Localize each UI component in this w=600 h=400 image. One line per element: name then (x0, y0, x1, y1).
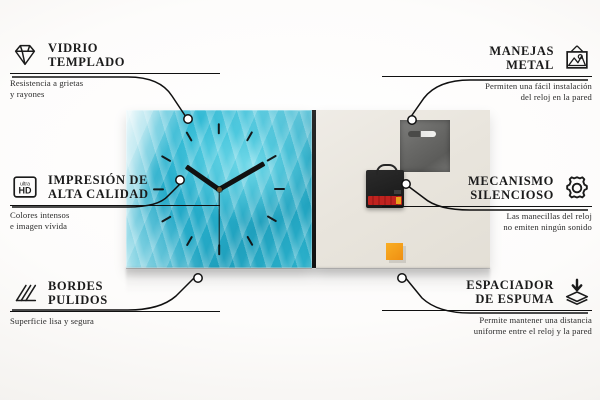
feature-rule (10, 73, 220, 74)
feature-description: Resistencia a grietas y rayones (10, 78, 220, 101)
feature-title-line2: SILENCIOSO (468, 188, 554, 202)
feature-rule (382, 206, 592, 207)
feature-title: IMPRESIÓN DE ALTA CALIDAD (48, 173, 149, 201)
feature-header: VIDRIO TEMPLADO (10, 40, 220, 70)
feature-rule (10, 205, 220, 206)
feature-desc-line1: Colores intensos (10, 210, 220, 221)
feature-desc-line2: uniforme entre el reloj y la pared (382, 326, 592, 337)
infographic-canvas: VIDRIO TEMPLADO Resistencia a grietas y … (0, 0, 600, 400)
feature-manejas-metal: MANEJAS METAL Permiten una fácil instala… (382, 43, 592, 104)
feature-vidrio-templado: VIDRIO TEMPLADO Resistencia a grietas y … (10, 40, 220, 101)
feature-title-line1: ESPACIADOR (466, 278, 554, 292)
feature-title: BORDES PULIDOS (48, 279, 108, 307)
feature-header: BORDES PULIDOS (10, 278, 220, 308)
feature-desc-line2: e imagen vívida (10, 221, 220, 232)
ultra-hd-badge-icon: ultra HD (10, 172, 40, 202)
feature-desc-line1: Resistencia a grietas (10, 78, 220, 89)
feature-bordes-pulidos: BORDES PULIDOS Superficie lisa y segura (10, 278, 220, 327)
feature-desc-line1: Las manecillas del reloj (382, 211, 592, 222)
feature-title: MANEJAS METAL (489, 44, 554, 72)
gear-icon (562, 173, 592, 203)
feature-title-line2: ALTA CALIDAD (48, 187, 149, 201)
feature-mecanismo-silencioso: MECANISMO SILENCIOSO Las manecillas del … (382, 173, 592, 234)
feature-description: Colores intensos e imagen vívida (10, 210, 220, 233)
feature-header: MECANISMO SILENCIOSO (382, 173, 592, 203)
polished-edges-icon (10, 278, 40, 308)
hanger-keyhole-slot (408, 131, 436, 137)
foam-spacer (386, 243, 403, 260)
feature-desc-line1: Permiten una fácil instalación (382, 81, 592, 92)
feature-title-line1: VIDRIO (48, 41, 125, 55)
feature-header: ESPACIADOR DE ESPUMA (382, 277, 592, 307)
feature-description: Permite mantener una distancia uniforme … (382, 315, 592, 338)
picture-hanger-icon (562, 43, 592, 73)
feature-title: ESPACIADOR DE ESPUMA (466, 278, 554, 306)
feature-header: ultra HD IMPRESIÓN DE ALTA CALIDAD (10, 172, 220, 202)
feature-title-line1: MECANISMO (468, 174, 554, 188)
feature-desc-line1: Permite mantener una distancia (382, 315, 592, 326)
feature-title-line2: TEMPLADO (48, 55, 125, 69)
feature-title: MECANISMO SILENCIOSO (468, 174, 554, 202)
diamond-icon (10, 40, 40, 70)
feature-espaciador-espuma: ESPACIADOR DE ESPUMA Permite mantener un… (382, 277, 592, 338)
feature-title-line1: MANEJAS (489, 44, 554, 58)
svg-text:HD: HD (19, 186, 32, 196)
feature-impresion-alta-calidad: ultra HD IMPRESIÓN DE ALTA CALIDAD Color… (10, 172, 220, 233)
feature-rule (382, 76, 592, 77)
feature-title-line1: BORDES (48, 279, 108, 293)
metal-hanger-plate (400, 120, 450, 172)
feature-desc-line1: Superficie lisa y segura (10, 316, 220, 327)
feature-description: Superficie lisa y segura (10, 316, 220, 327)
feature-title-line2: DE ESPUMA (466, 292, 554, 306)
feature-desc-line2: y rayones (10, 89, 220, 100)
feature-rule (382, 310, 592, 311)
feature-description: Las manecillas del reloj no emiten ningú… (382, 211, 592, 234)
feature-desc-line2: no emiten ningún sonido (382, 222, 592, 233)
feature-title-line2: PULIDOS (48, 293, 108, 307)
feature-title-line2: METAL (489, 58, 554, 72)
foam-spacer-icon (562, 277, 592, 307)
feature-title-line1: IMPRESIÓN DE (48, 173, 149, 187)
feature-title: VIDRIO TEMPLADO (48, 41, 125, 69)
feature-desc-line2: del reloj en la pared (382, 92, 592, 103)
feature-rule (10, 311, 220, 312)
feature-description: Permiten una fácil instalación del reloj… (382, 81, 592, 104)
feature-header: MANEJAS METAL (382, 43, 592, 73)
